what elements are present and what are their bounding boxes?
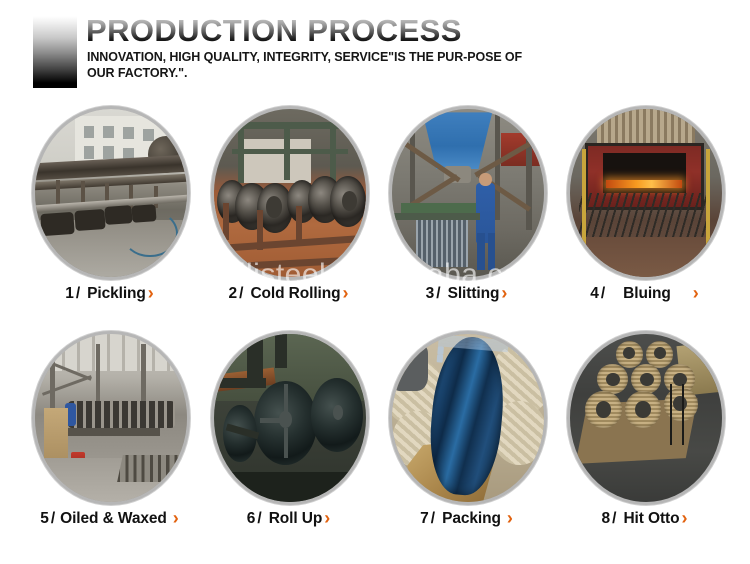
step-name: Hit Otto [623,510,679,528]
step-number: 2 [229,285,238,303]
process-label-3[interactable]: 3 / Slitting › [373,283,560,303]
process-image-slitting[interactable] [392,109,544,277]
page-title: PRODUCTION PROCESS [86,14,462,48]
process-label-8[interactable]: 8 / Hit Otto › [551,508,738,528]
step-separator: / [257,510,261,528]
chevron-right-icon[interactable]: › [693,284,699,302]
step-number: 1 [65,285,74,303]
process-image-oiled-waxed[interactable] [35,334,187,502]
process-image-cold-rolling[interactable] [214,109,366,277]
chevron-right-icon[interactable]: › [173,509,179,527]
step-separator: / [612,510,616,528]
step-name: Oiled & Waxed [60,510,167,528]
step-separator: / [239,285,243,303]
process-image-packing[interactable] [392,334,544,502]
process-image-pickling[interactable] [35,109,187,277]
step-name: Packing [442,510,501,528]
step-name: Bluing [623,285,671,303]
step-number: 6 [247,510,256,528]
process-row-1: 1 / Pickling › [0,105,750,319]
chevron-right-icon[interactable]: › [681,509,687,527]
page-header: PRODUCTION PROCESS INNOVATION, HIGH QUAL… [0,0,750,100]
process-step-6[interactable]: 6 / Roll Up › [195,330,382,544]
process-image-hit-otto[interactable] [570,334,722,502]
step-separator: / [601,285,605,303]
step-number: 5 [40,510,49,528]
step-separator: / [436,285,440,303]
step-number: 7 [420,510,429,528]
process-label-7[interactable]: 7 / Packing › [373,508,560,528]
step-separator: / [76,285,80,303]
process-row-2: 5 / Oiled & Waxed › [0,330,750,544]
process-step-3[interactable]: 3 / Slitting › [373,105,560,319]
process-step-5[interactable]: 5 / Oiled & Waxed › [16,330,203,544]
chevron-right-icon[interactable]: › [343,284,349,302]
process-label-5[interactable]: 5 / Oiled & Waxed › [16,508,203,528]
step-name: Roll Up [269,510,323,528]
chevron-right-icon[interactable]: › [507,509,513,527]
page-subtitle: INNOVATION, HIGH QUALITY, INTEGRITY, SER… [87,50,537,81]
step-name: Pickling [87,285,146,303]
chevron-right-icon[interactable]: › [148,284,154,302]
step-separator: / [51,510,55,528]
process-label-4[interactable]: 4 / Bluing › [551,283,738,303]
process-step-2[interactable]: 2 / Cold Rolling › [195,105,382,319]
header-gradient-block [33,16,77,88]
step-number: 3 [426,285,435,303]
process-label-1[interactable]: 1 / Pickling › [16,283,203,303]
step-name: Slitting [448,285,500,303]
chevron-right-icon[interactable]: › [501,284,507,302]
step-number: 4 [590,285,599,303]
process-image-bluing[interactable] [570,109,722,277]
step-name: Cold Rolling [250,285,340,303]
process-label-6[interactable]: 6 / Roll Up › [195,508,382,528]
process-label-2[interactable]: 2 / Cold Rolling › [195,283,382,303]
chevron-right-icon[interactable]: › [324,509,330,527]
process-step-8[interactable]: 8 / Hit Otto › [551,330,738,544]
process-image-roll-up[interactable] [214,334,366,502]
step-separator: / [431,510,435,528]
process-step-4[interactable]: 4 / Bluing › [551,105,738,319]
process-step-1[interactable]: 1 / Pickling › [16,105,203,319]
step-number: 8 [602,510,611,528]
process-step-7[interactable]: 7 / Packing › [373,330,560,544]
